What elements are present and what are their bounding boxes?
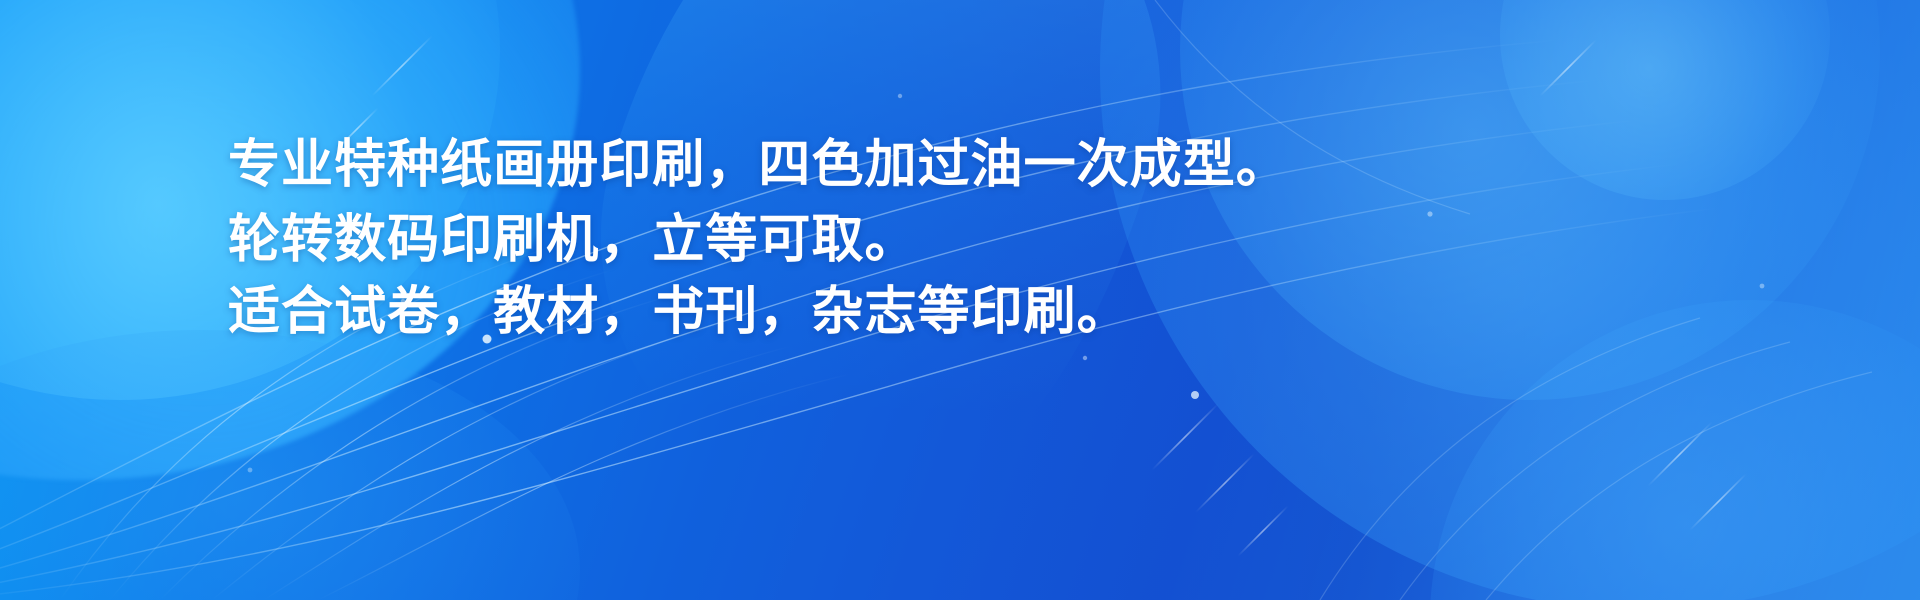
headline-line-2: 轮转数码印刷机，立等可取。 [228, 204, 1628, 276]
headline-block: 专业特种纸画册印刷，四色加过油一次成型。 轮转数码印刷机，立等可取。 适合试卷，… [228, 126, 1628, 348]
promo-banner: 专业特种纸画册印刷，四色加过油一次成型。 轮转数码印刷机，立等可取。 适合试卷，… [0, 0, 1920, 600]
headline-line-3: 适合试卷，教材，书刊，杂志等印刷。 [228, 276, 1628, 348]
headline-line-1: 专业特种纸画册印刷，四色加过油一次成型。 [228, 126, 1628, 204]
